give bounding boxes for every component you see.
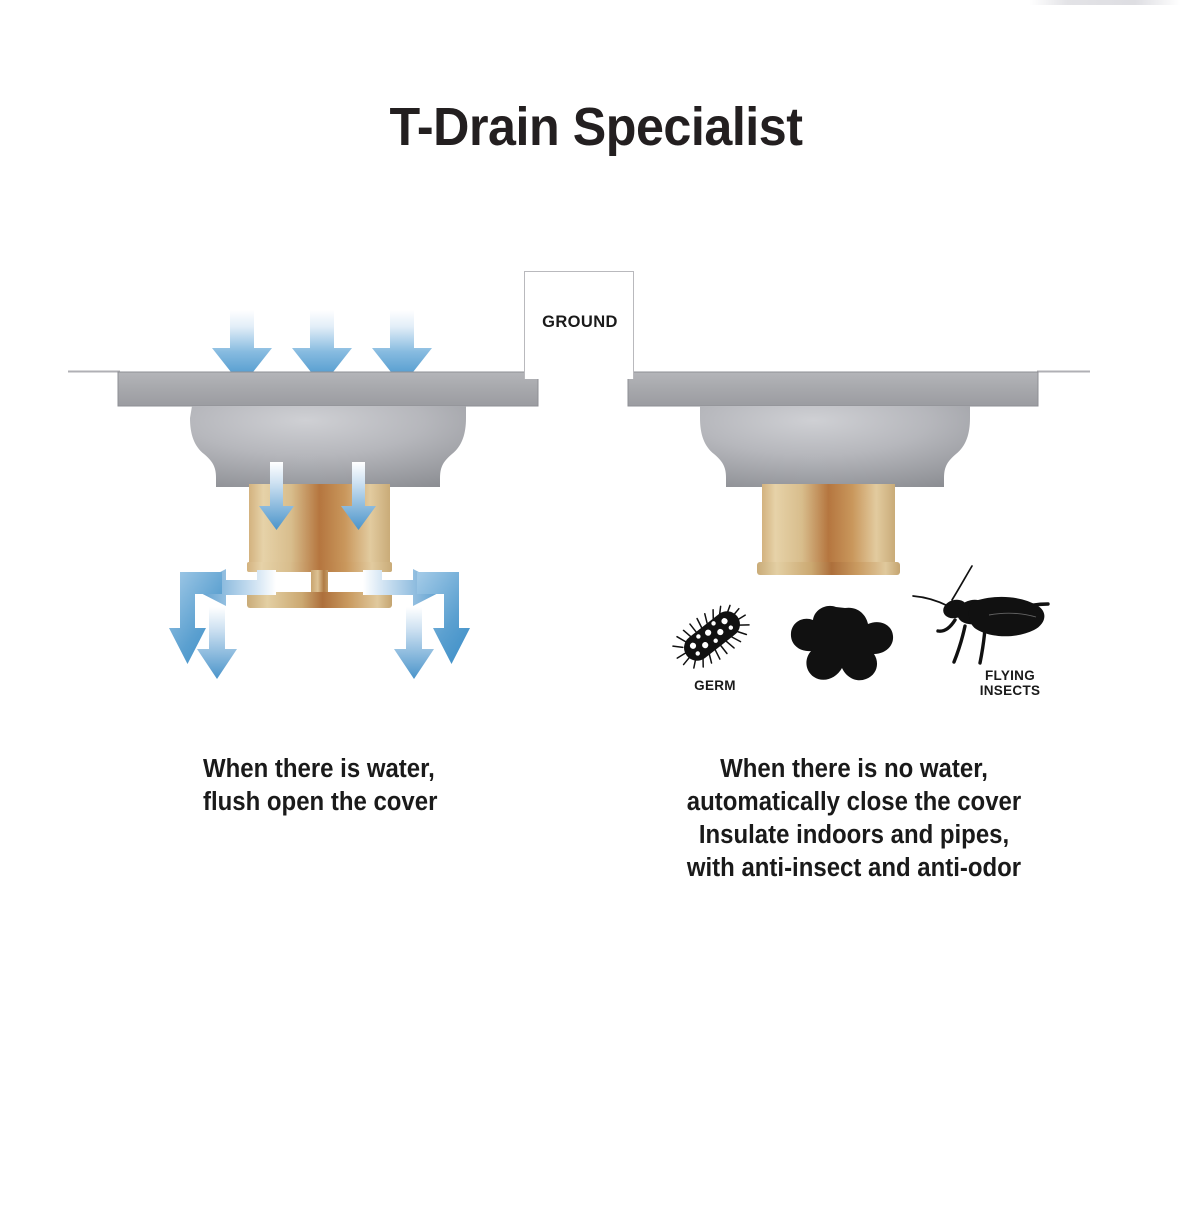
flying-insects-label: FLYING INSECTS	[952, 668, 1068, 698]
ground-label-box: GROUND	[524, 271, 634, 379]
water-arrow-down-icon	[197, 607, 237, 679]
germ-label: GERM	[660, 678, 770, 693]
caption-right: When there is no water, automatically cl…	[647, 753, 1061, 885]
left-drain-assembly	[118, 310, 538, 679]
odor-blob-icon	[791, 606, 893, 680]
water-arrow-down-icon	[394, 607, 434, 679]
drain-diagram	[0, 0, 1192, 1208]
cover-plate-closed	[757, 562, 900, 575]
drain-flange	[118, 372, 538, 406]
drain-flange	[628, 372, 1038, 406]
germ-icon	[666, 594, 757, 680]
caption-left: When there is water, flush open the cove…	[203, 753, 437, 819]
drain-body-shape	[190, 406, 466, 487]
ground-label-text: GROUND	[525, 313, 635, 332]
brass-cylinder	[762, 484, 895, 566]
cockroach-icon	[913, 566, 1048, 663]
drain-body-shape	[700, 406, 970, 487]
right-drain-assembly	[628, 372, 1038, 575]
infographic-canvas: T-Drain Specialist	[0, 0, 1192, 1208]
